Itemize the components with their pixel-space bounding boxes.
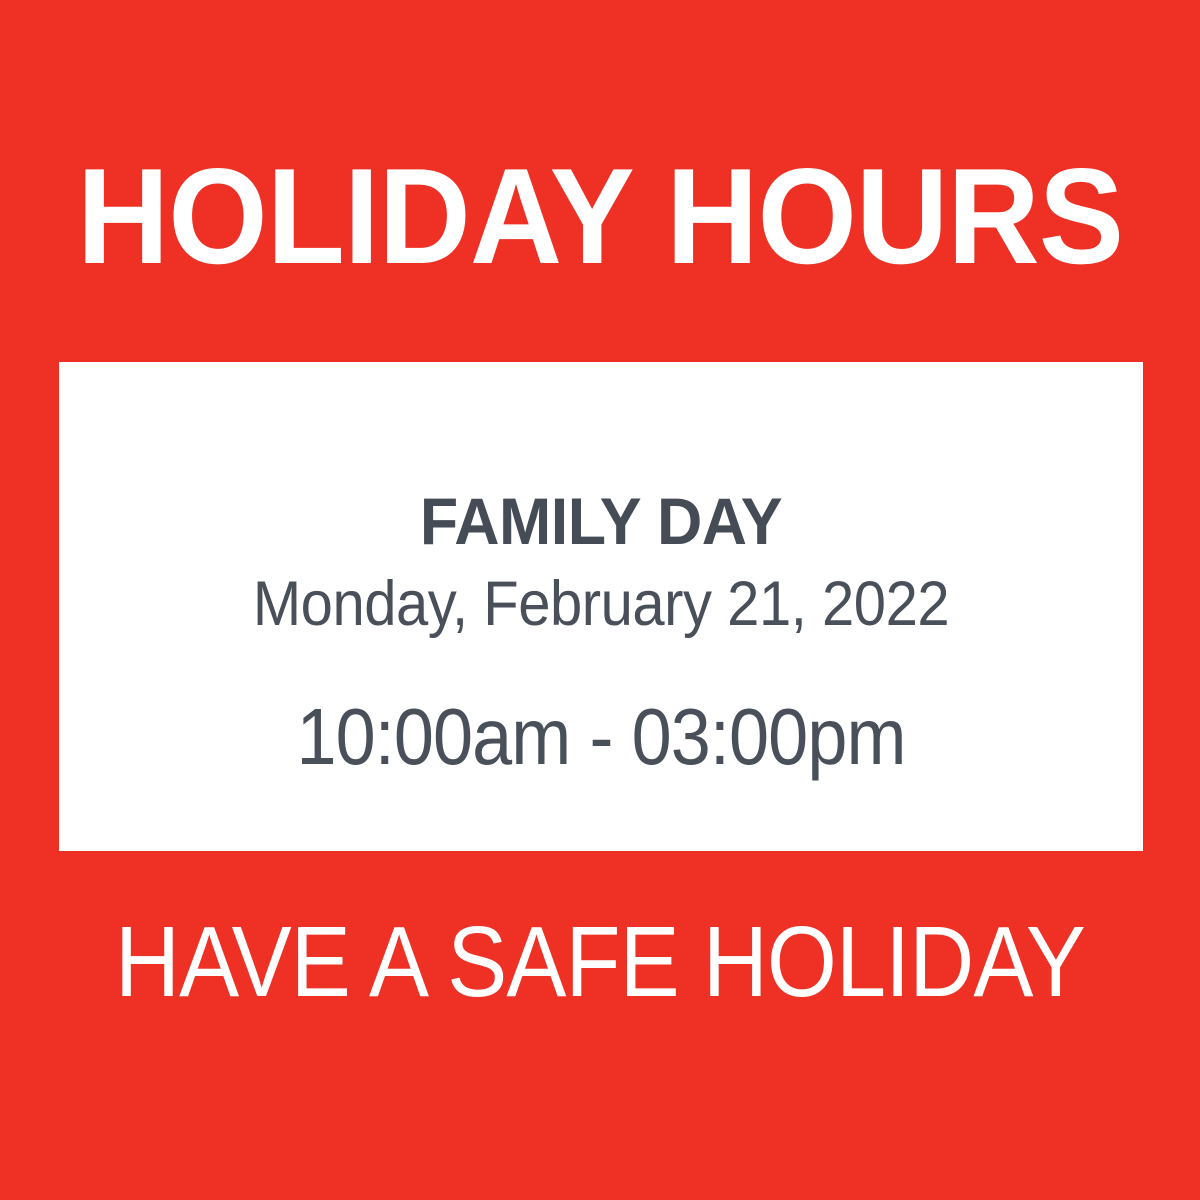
footer-message: HAVE A SAFE HOLIDAY [60,912,1140,1012]
holiday-date: Monday, February 21, 2022 [102,573,1099,636]
page-title: HOLIDAY HOURS [36,148,1164,284]
holiday-info-card-content: FAMILY DAY Monday, February 21, 2022 10:… [59,362,1143,851]
holiday-name: FAMILY DAY [86,488,1116,554]
holiday-hours-range: 10:00am - 03:00pm [113,697,1089,777]
holiday-hours-poster: HOLIDAY HOURS FAMILY DAY Monday, Februar… [0,0,1200,1200]
holiday-info-card: FAMILY DAY Monday, February 21, 2022 10:… [59,362,1143,851]
